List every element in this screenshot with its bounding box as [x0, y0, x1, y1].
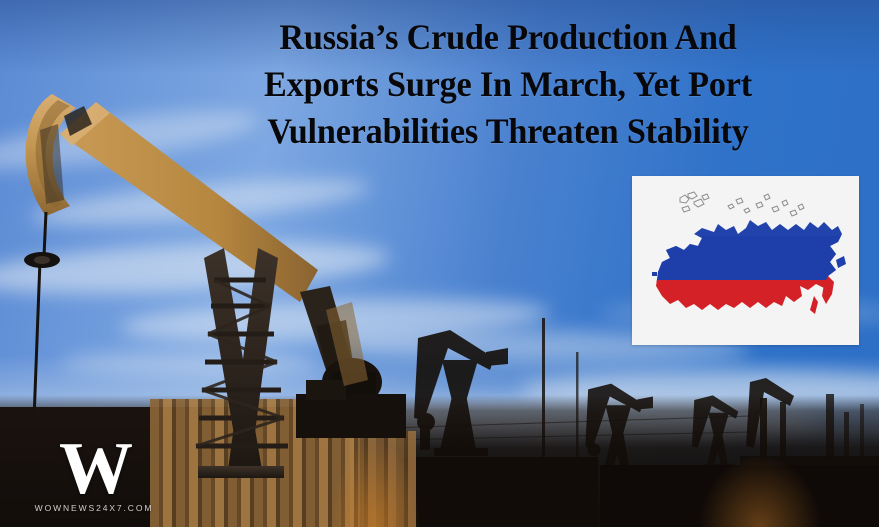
- headline-line-3: Vulnerabilities Threaten Stability: [176, 108, 841, 155]
- russia-flag-map: [632, 176, 859, 345]
- headline-line-2: Exports Surge In March, Yet Port: [176, 61, 841, 108]
- russia-flag-map-card: [632, 176, 859, 345]
- page-title: Russia’s Crude Production And Exports Su…: [176, 14, 841, 154]
- news-hero-image: Russia’s Crude Production And Exports Su…: [0, 0, 879, 527]
- amber-light-glow: [700, 457, 820, 527]
- headline-line-1: Russia’s Crude Production And: [176, 14, 841, 61]
